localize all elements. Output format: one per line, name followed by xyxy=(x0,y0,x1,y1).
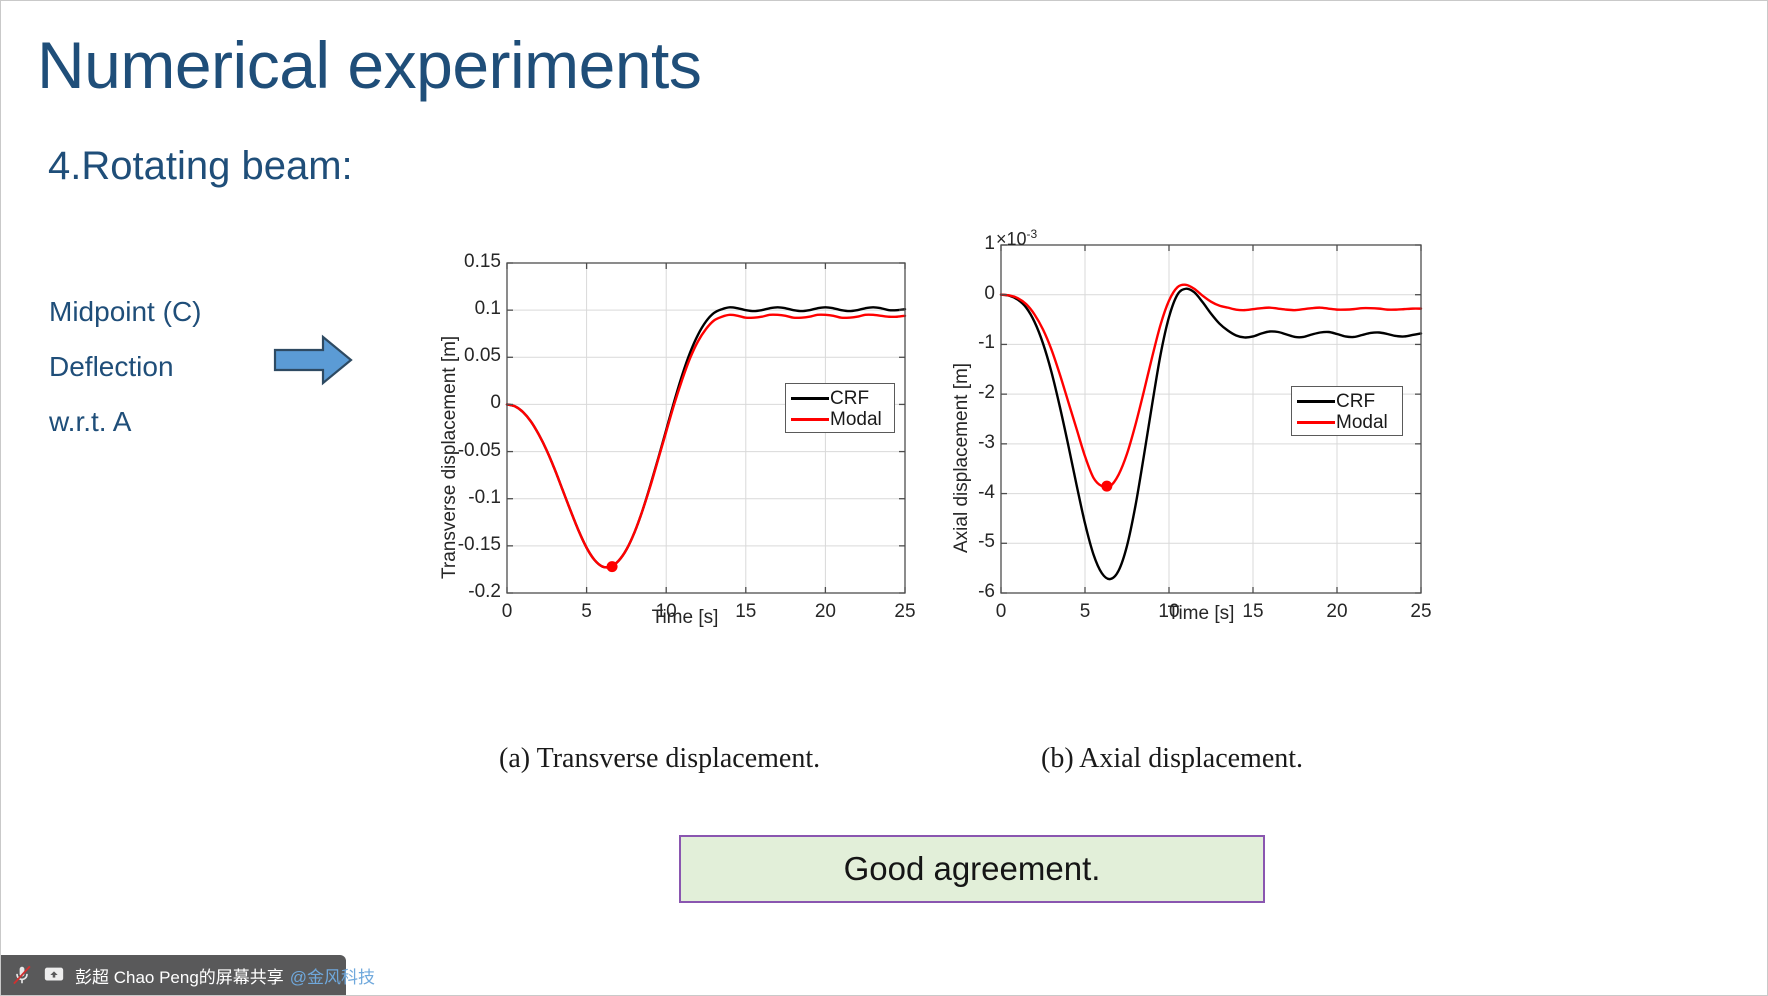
y-tick-label: -1 xyxy=(935,332,995,354)
legend-swatch-crf xyxy=(791,397,829,400)
legend-label: CRF xyxy=(1336,391,1375,412)
legend-item: Modal xyxy=(791,409,887,430)
y-tick-label: 1 xyxy=(935,233,995,255)
taskbar-company: @金风科技 xyxy=(290,963,375,988)
chart-legend: CRF Modal xyxy=(1291,386,1403,436)
x-tick-label: 10 xyxy=(1144,601,1194,623)
y-tick-label: 0 xyxy=(935,283,995,305)
y-tick-label: -4 xyxy=(935,482,995,504)
list-item: w.r.t. A xyxy=(49,394,309,449)
x-tick-label: 25 xyxy=(880,601,930,623)
bullet-list: Midpoint (C) Deflection w.r.t. A xyxy=(49,284,309,449)
screen-share-icon[interactable] xyxy=(41,962,67,988)
legend-swatch-modal xyxy=(1297,421,1335,424)
x-tick-label: 0 xyxy=(976,601,1026,623)
legend-label: Modal xyxy=(830,409,882,430)
list-item: Midpoint (C) xyxy=(49,284,309,339)
legend-item: CRF xyxy=(1297,391,1395,412)
x-tick-label: 25 xyxy=(1396,601,1446,623)
y-tick-label: -3 xyxy=(935,432,995,454)
chart-transverse-displacement: Transverse displacement [m] Time [s] CRF… xyxy=(425,249,925,649)
y-tick-label: -0.2 xyxy=(441,581,501,603)
y-tick-label: 0.1 xyxy=(441,298,501,320)
legend-label: Modal xyxy=(1336,412,1388,433)
mic-muted-icon[interactable] xyxy=(9,962,35,988)
y-tick-label: -6 xyxy=(935,581,995,603)
y-tick-label: -0.1 xyxy=(441,487,501,509)
page-title: Numerical experiments xyxy=(37,27,701,103)
legend-swatch-modal xyxy=(791,418,829,421)
legend-label: CRF xyxy=(830,388,869,409)
x-tick-label: 20 xyxy=(800,601,850,623)
y-tick-label: -0.05 xyxy=(441,440,501,462)
list-item: Deflection xyxy=(49,339,309,394)
figure-caption-b: (b) Axial displacement. xyxy=(1041,743,1303,775)
y-axis-exponent: ×10-3 xyxy=(996,227,1037,250)
x-tick-label: 10 xyxy=(641,601,691,623)
x-tick-label: 15 xyxy=(721,601,771,623)
x-tick-label: 5 xyxy=(562,601,612,623)
x-tick-label: 5 xyxy=(1060,601,1110,623)
x-tick-label: 20 xyxy=(1312,601,1362,623)
presentation-slide: Numerical experiments 4.Rotating beam: M… xyxy=(0,0,1768,996)
y-tick-label: 0 xyxy=(441,392,501,414)
screen-share-taskbar[interactable]: 彭超 Chao Peng的屏幕共享 @金风科技 xyxy=(1,955,346,995)
status-badge: Good agreement. xyxy=(679,835,1265,903)
y-tick-label: -2 xyxy=(935,382,995,404)
chart-axial-displacement: Axial displacement [m] Time [s] ×10-3 CR… xyxy=(941,223,1441,643)
x-tick-label: 15 xyxy=(1228,601,1278,623)
slide-subtitle: 4.Rotating beam: xyxy=(48,144,353,189)
y-tick-label: -5 xyxy=(935,531,995,553)
legend-swatch-crf xyxy=(1297,400,1335,403)
y-tick-label: 0.15 xyxy=(441,251,501,273)
y-tick-label: -0.15 xyxy=(441,534,501,556)
chart-legend: CRF Modal xyxy=(785,383,895,433)
y-tick-label: 0.05 xyxy=(441,345,501,367)
taskbar-title: 彭超 Chao Peng的屏幕共享 xyxy=(75,963,284,988)
legend-item: CRF xyxy=(791,388,887,409)
figure-caption-a: (a) Transverse displacement. xyxy=(499,743,820,775)
right-arrow-icon xyxy=(273,334,353,386)
callout-text: Good agreement. xyxy=(844,850,1101,888)
legend-item: Modal xyxy=(1297,412,1395,433)
x-tick-label: 0 xyxy=(482,601,532,623)
